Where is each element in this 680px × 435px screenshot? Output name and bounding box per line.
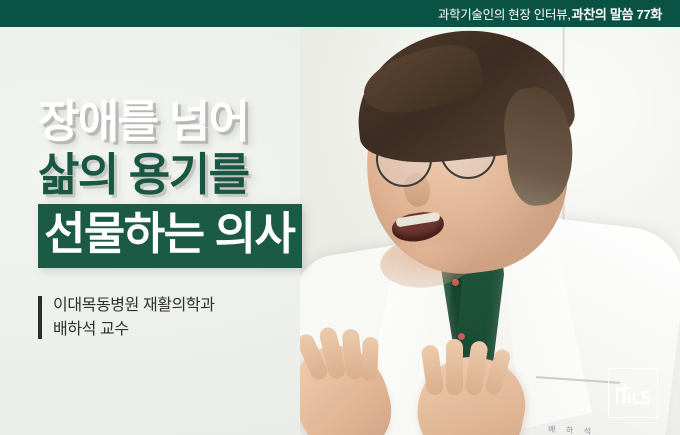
- headline-line-3-highlight: 선물하는 의사: [38, 204, 302, 267]
- ntis-logo: [608, 368, 658, 418]
- banner-series-text: 과학기술인의 현장 인터뷰,: [438, 4, 571, 23]
- shirt-button: [458, 333, 465, 340]
- headline-line-1: 장애를 넘어: [38, 96, 302, 148]
- headline-line-2: 삶의 용기를: [38, 149, 302, 201]
- finger: [446, 339, 463, 395]
- subtitle-block: 이대목동병원 재활의학과 배하석 교수: [38, 296, 215, 339]
- subtitle-affiliation: 이대목동병원 재활의학과: [53, 296, 215, 315]
- interview-thumbnail-card: 배 하 석 과학기술인의 현장 인터뷰,: [0, 0, 680, 435]
- subtitle-accent-bar: [38, 296, 42, 339]
- top-banner: 과학기술인의 현장 인터뷰, 과찬의 말씀 77화: [0, 0, 680, 27]
- subtitle-name-title: 배하석 교수: [53, 320, 215, 339]
- headline-line-3: 선물하는 의사: [44, 208, 294, 260]
- ntis-logo-mark: [616, 382, 650, 404]
- banner-episode-text: 과찬의 말씀 77화: [572, 4, 662, 23]
- finger: [361, 337, 379, 382]
- subtitle-lines: 이대목동병원 재활의학과 배하석 교수: [53, 296, 215, 339]
- coat-name-embroidery: 배 하 석: [548, 424, 596, 435]
- headline-block: 장애를 넘어 삶의 용기를 선물하는 의사: [38, 96, 302, 268]
